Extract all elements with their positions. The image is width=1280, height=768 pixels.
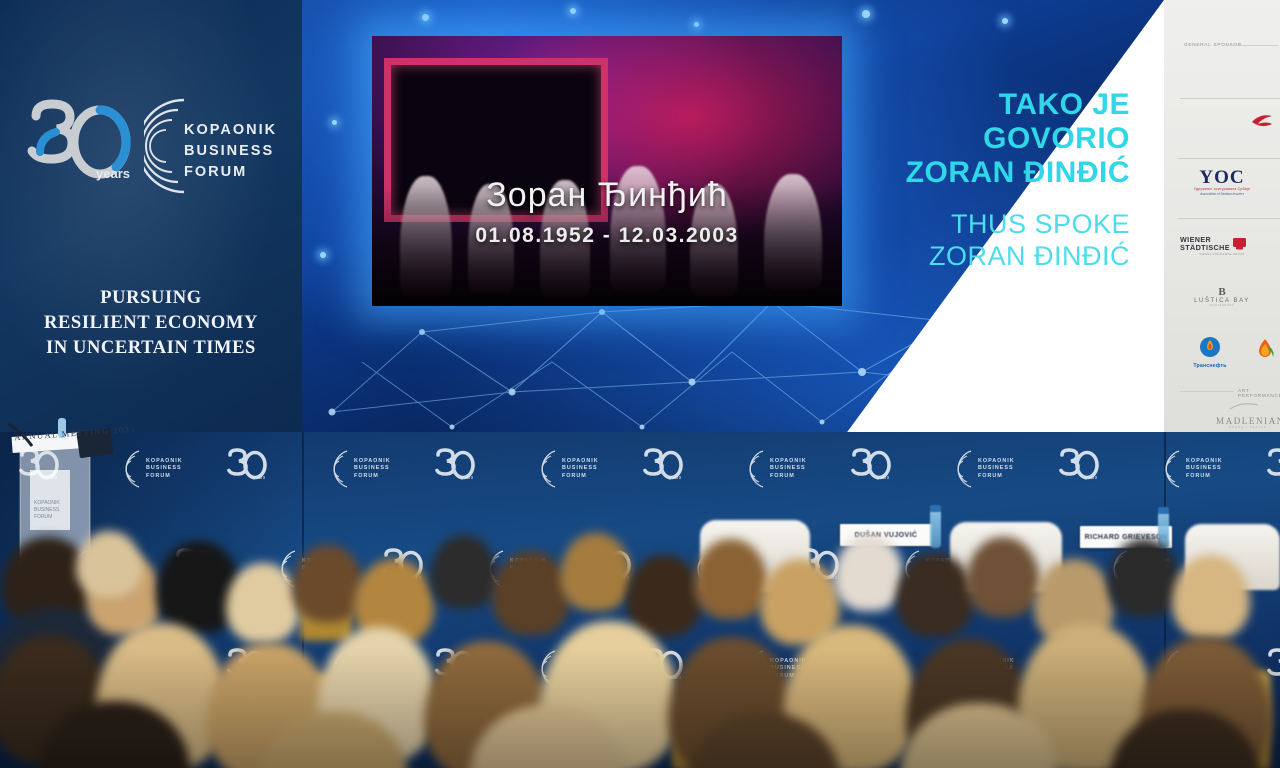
madlenianum-wordmark: MADLENIANUM — [1216, 416, 1280, 426]
light-dot — [694, 22, 699, 27]
brand-line-3: FORUM — [184, 162, 277, 183]
wiener-subtitle: VIENNA INSURANCE GROUP — [1180, 252, 1264, 256]
banner-vignette — [0, 0, 302, 432]
memorial-name: Зоран Ђинђић — [372, 176, 842, 215]
projection-screen: Зоран Ђинђић 01.08.1952 - 12.03.2003 TAK… — [302, 0, 1164, 432]
madlenianum-subtitle: OPERA I TEATAR — [1216, 426, 1280, 429]
divider — [1180, 98, 1280, 99]
backdrop-thirty-logo-icon: years — [226, 448, 272, 487]
slide-sr-line-3: ZORAN ĐINĐIĆ — [800, 156, 1130, 190]
multicolor-flame-icon — [1254, 338, 1276, 362]
light-dot — [332, 120, 337, 125]
sponsor-lustica-bay: B LUŠTICA BAY MONTENEGRO — [1180, 286, 1264, 307]
yoc-wordmark: YOC — [1178, 168, 1266, 187]
slide-title-block: TAKO JE GOVORIO ZORAN ĐINĐIĆ THUS SPOKE … — [800, 88, 1130, 272]
divider — [1226, 45, 1278, 46]
divider — [1178, 158, 1280, 159]
thirty-years-logo-icon: years — [26, 98, 144, 186]
red-wing-icon — [1250, 112, 1280, 132]
audience-crowd — [0, 515, 1280, 768]
audience-head — [430, 535, 498, 609]
slide-sr-line-2: GOVORIO — [800, 122, 1130, 156]
lustica-monogram: B — [1180, 286, 1264, 298]
light-dot — [320, 252, 326, 258]
conference-photo: years KOPAONIK BUSINESS FORUM PURSUING R… — [0, 0, 1280, 768]
svg-text:years: years — [96, 166, 130, 181]
backdrop-thirty-logo-icon: years — [434, 448, 480, 487]
sponsor-wiener-staedtische: WIENER STÄDTISCHE VIENNA INSURANCE GROUP — [1180, 236, 1264, 256]
slide-sr-line-1: TAKO JE — [800, 88, 1130, 122]
transneft-wordmark: Транснефть — [1182, 363, 1238, 369]
audience-head — [896, 553, 974, 637]
backdrop-kbf-logo: KOPAONIKBUSINESSFORUM — [1162, 448, 1223, 490]
bottle-cap — [1158, 507, 1169, 514]
audience-head — [966, 537, 1040, 617]
divider — [1178, 218, 1280, 219]
yoc-subtitle-en: Association of Serbian Insurers — [1178, 192, 1266, 197]
audience-head — [694, 539, 768, 619]
sponsor-transneft: Транснефть — [1182, 336, 1238, 369]
kbf-logo-lockup: years KOPAONIK BUSINESS FORUM — [26, 98, 276, 194]
sponsor-panel: GENERAL SPONSOR YOC Удружење осигуравача… — [1164, 0, 1280, 432]
left-banner: years KOPAONIK BUSINESS FORUM PURSUING R… — [0, 0, 302, 432]
light-dot — [422, 14, 429, 21]
sponsor-madlenianum: MADLENIANUM OPERA I TEATAR — [1216, 398, 1280, 429]
light-dot — [1002, 18, 1008, 24]
backdrop-kbf-logo: KOPAONIKBUSINESSFORUM — [538, 448, 599, 490]
slide-title-serbian: TAKO JE GOVORIO ZORAN ĐINĐIĆ — [800, 88, 1130, 190]
svg-text:years: years — [461, 475, 474, 481]
backdrop-thirty-logo-icon: years — [642, 448, 688, 487]
backdrop-kbf-logo: KOPAONIKBUSINESSFORUM — [330, 448, 391, 490]
svg-text:years: years — [877, 475, 890, 481]
audience-head — [834, 535, 904, 611]
brand-line-2: BUSINESS — [184, 141, 277, 162]
svg-text:years: years — [1085, 475, 1098, 481]
lustica-subtitle: MONTENEGRO — [1180, 304, 1264, 307]
flame-circle-icon — [1199, 336, 1221, 358]
audience-head — [1108, 539, 1180, 617]
slide-en-line-1: THUS SPOKE — [800, 208, 1130, 240]
backdrop-thirty-logo-icon: years — [850, 448, 896, 487]
backdrop-kbf-logo: KOPAONIKBUSINESSFORUM — [954, 448, 1015, 490]
art-performance-label: ART PERFORMANCE — [1238, 388, 1280, 398]
audience-head — [492, 551, 570, 635]
tagline-line-3: IN UNCERTAIN TIMES — [0, 336, 302, 361]
kbf-brand-text: KOPAONIK BUSINESS FORUM — [184, 120, 277, 183]
brand-line-1: KOPAONIK — [184, 120, 277, 141]
backdrop-thirty-logo-icon: years — [1266, 448, 1280, 487]
video-playback: Зоран Ђинђић 01.08.1952 - 12.03.2003 — [372, 36, 842, 306]
slide-en-line-2: ZORAN ĐINĐIĆ — [800, 240, 1130, 272]
svg-text:years: years — [669, 475, 682, 481]
bottle-cap — [930, 505, 941, 512]
sponsor-flame-logo — [1250, 338, 1280, 367]
backdrop-thirty-logo-icon: years — [1058, 448, 1104, 487]
audience-head — [626, 555, 702, 637]
audience-head — [76, 531, 142, 597]
svg-text:BUSINESS: BUSINESS — [34, 507, 60, 513]
divider — [1180, 391, 1234, 392]
audience-head — [1172, 555, 1250, 639]
backdrop-kbf-logo: KOPAONIKBUSINESSFORUM — [746, 448, 807, 490]
svg-text:years: years — [253, 475, 266, 481]
light-dot — [570, 8, 576, 14]
slide-title-english: THUS SPOKE ZORAN ĐINĐIĆ — [800, 208, 1130, 272]
tagline-line-2: RESILIENT ECONOMY — [0, 311, 302, 336]
tagline-line-1: PURSUING — [0, 286, 302, 311]
svg-text:KOPAONIK: KOPAONIK — [34, 500, 60, 506]
wiener-line-2: STÄDTISCHE — [1180, 244, 1230, 252]
memorial-dates: 01.08.1952 - 12.03.2003 — [372, 224, 842, 248]
madlenianum-swoosh-icon — [1228, 401, 1268, 411]
vig-square-icon — [1233, 238, 1246, 250]
light-dot — [862, 10, 870, 18]
backdrop-kbf-logo: KOPAONIKBUSINESSFORUM — [122, 448, 183, 490]
audience-head — [560, 533, 632, 611]
event-tagline: PURSUING RESILIENT ECONOMY IN UNCERTAIN … — [0, 286, 302, 361]
sponsor-yoc: YOC Удружење осигуравача Србије Associat… — [1178, 168, 1266, 197]
audience-head — [226, 563, 300, 643]
sponsor-generali-logo — [1250, 112, 1280, 137]
